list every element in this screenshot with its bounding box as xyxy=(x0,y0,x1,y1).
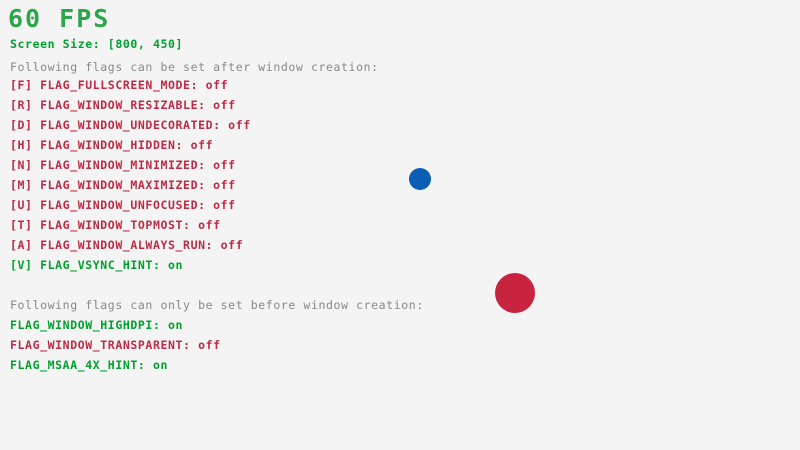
flag-row-window-highdpi: FLAG_WINDOW_HIGHDPI: on xyxy=(10,319,183,332)
flag-row-window-topmost[interactable]: [T] FLAG_WINDOW_TOPMOST: off xyxy=(10,219,221,232)
flag-row-window-resizable[interactable]: [R] FLAG_WINDOW_RESIZABLE: off xyxy=(10,99,236,112)
creation-flags-header: Following flags can only be set before w… xyxy=(10,299,424,312)
flag-row-window-always-run[interactable]: [A] FLAG_WINDOW_ALWAYS_RUN: off xyxy=(10,239,243,252)
flag-row-vsync-hint[interactable]: [V] FLAG_VSYNC_HINT: on xyxy=(10,259,183,272)
flag-row-fullscreen-mode[interactable]: [F] FLAG_FULLSCREEN_MODE: off xyxy=(10,79,228,92)
screen-size-label: Screen Size: [800, 450] xyxy=(10,38,183,51)
flag-row-window-maximized[interactable]: [M] FLAG_WINDOW_MAXIMIZED: off xyxy=(10,179,236,192)
flag-row-window-minimized[interactable]: [N] FLAG_WINDOW_MINIMIZED: off xyxy=(10,159,236,172)
flag-row-window-hidden[interactable]: [H] FLAG_WINDOW_HIDDEN: off xyxy=(10,139,213,152)
flag-row-window-unfocused[interactable]: [U] FLAG_WINDOW_UNFOCUSED: off xyxy=(10,199,236,212)
fps-counter: 60 FPS xyxy=(8,6,110,32)
red-circle-shape xyxy=(495,273,535,313)
raylib-window-canvas: 60 FPS Screen Size: [800, 450] Following… xyxy=(0,0,800,450)
runtime-flags-header: Following flags can be set after window … xyxy=(10,61,379,74)
flag-row-window-transparent: FLAG_WINDOW_TRANSPARENT: off xyxy=(10,339,221,352)
flag-row-window-undecorated[interactable]: [D] FLAG_WINDOW_UNDECORATED: off xyxy=(10,119,251,132)
blue-circle-shape xyxy=(409,168,431,190)
flag-row-msaa-4x-hint: FLAG_MSAA_4X_HINT: on xyxy=(10,359,168,372)
